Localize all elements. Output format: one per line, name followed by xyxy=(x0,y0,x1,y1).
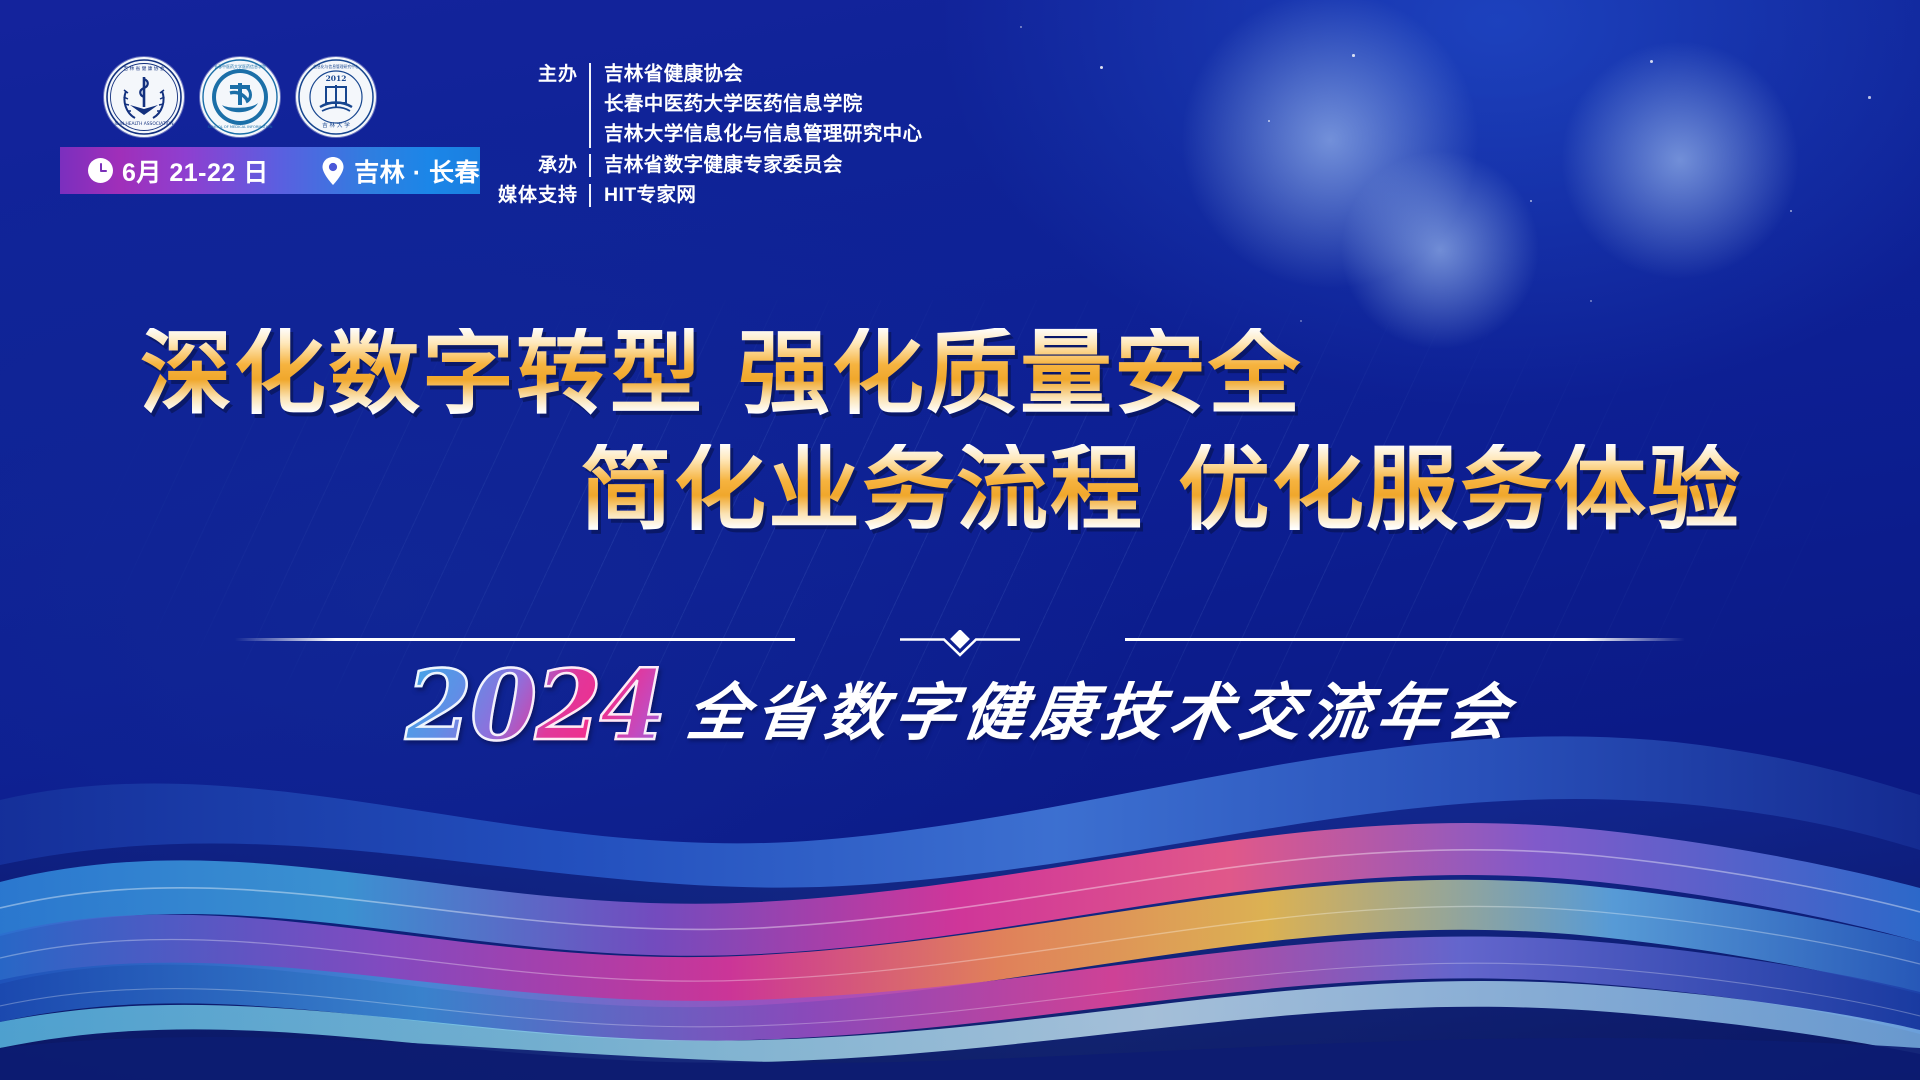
organizer-values: HIT专家网 xyxy=(604,183,696,208)
organizer-values: 吉林省健康协会 长春中医药大学医药信息学院 吉林大学信息化与信息管理研究中心 xyxy=(604,62,922,147)
star-dot xyxy=(1790,210,1792,212)
decorative-wave-graphic xyxy=(0,650,1920,1080)
jilin-university-informatization-center-logo: 2012 信息化与信息管理研究中心 吉 林 大 学 xyxy=(296,57,376,137)
clock-icon xyxy=(88,158,113,183)
divider-bar xyxy=(589,63,591,148)
star-glow xyxy=(1560,40,1800,280)
organizer-label: 媒体支持 xyxy=(492,183,578,208)
svg-text:信息化与信息管理研究中心: 信息化与信息管理研究中心 xyxy=(313,64,359,69)
svg-text:JILIN HEALTH ASSOCIATION: JILIN HEALTH ASSOCIATION xyxy=(113,121,173,127)
divider-line-right xyxy=(1125,638,1685,641)
map-pin-icon xyxy=(321,156,345,186)
star-dot xyxy=(1352,54,1355,57)
headline-line-1: 深化数字转型 强化质量安全 xyxy=(0,328,1920,420)
organizer-values: 吉林省数字健康专家委员会 xyxy=(604,153,843,178)
divider-line-left xyxy=(235,638,795,641)
star-dot xyxy=(1100,66,1103,69)
date-location-bar: 6月 21-22 日 吉林 · 长春 xyxy=(60,147,480,194)
organizer-value: 吉林省数字健康专家委员会 xyxy=(604,153,843,178)
star-dot xyxy=(1530,200,1532,202)
svg-text:吉 林 大 学: 吉 林 大 学 xyxy=(322,121,350,129)
divider-bar xyxy=(589,154,591,177)
star-dot xyxy=(1868,96,1871,99)
organizer-label: 承办 xyxy=(492,153,578,178)
event-date: 6月 21-22 日 xyxy=(122,153,269,189)
divider-bar xyxy=(589,184,591,207)
organizer-value: HIT专家网 xyxy=(604,183,696,208)
star-dot xyxy=(1020,26,1022,28)
organizer-value: 长春中医药大学医药信息学院 xyxy=(604,92,922,117)
organizer-row-host: 主办 吉林省健康协会 长春中医药大学医药信息学院 吉林大学信息化与信息管理研究中… xyxy=(492,62,922,148)
poster-canvas: JILIN HEALTH ASSOCIATION 吉 林 省 健 康 协 会 长… xyxy=(0,0,1920,1080)
changchun-university-cm-medical-information-logo: 长春中医药大学医药信息学院 SCHOOL OF MEDICAL INFORMAT… xyxy=(200,57,280,137)
location-segment: 吉林 · 长春 xyxy=(321,153,480,189)
star-dot xyxy=(1268,120,1270,122)
svg-text:SCHOOL OF MEDICAL INFORMATION: SCHOOL OF MEDICAL INFORMATION xyxy=(208,125,273,129)
headline-block: 深化数字转型 强化质量安全 简化业务流程 优化服务体验 xyxy=(0,328,1920,536)
organizer-row-media: 媒体支持 HIT专家网 xyxy=(492,183,922,208)
jilin-health-association-logo: JILIN HEALTH ASSOCIATION 吉 林 省 健 康 协 会 xyxy=(104,57,184,137)
svg-text:长春中医药大学医药信息学院: 长春中医药大学医药信息学院 xyxy=(214,63,266,69)
svg-text:2012: 2012 xyxy=(326,74,347,83)
svg-text:吉 林 省 健 康 协 会: 吉 林 省 健 康 协 会 xyxy=(124,65,165,72)
headline-line-2: 简化业务流程 优化服务体验 xyxy=(0,444,1920,536)
star-dot xyxy=(1650,60,1653,63)
event-location: 吉林 · 长春 xyxy=(354,153,480,189)
organizer-value: 吉林大学信息化与信息管理研究中心 xyxy=(604,122,922,147)
organizer-credits: 主办 吉林省健康协会 长春中医药大学医药信息学院 吉林大学信息化与信息管理研究中… xyxy=(492,62,922,213)
organizer-logo-group: JILIN HEALTH ASSOCIATION 吉 林 省 健 康 协 会 长… xyxy=(104,57,376,137)
organizer-label: 主办 xyxy=(492,62,578,87)
organizer-row-coorganizer: 承办 吉林省数字健康专家委员会 xyxy=(492,153,922,178)
organizer-value: 吉林省健康协会 xyxy=(604,62,922,87)
star-glow xyxy=(1180,0,1480,290)
date-segment: 6月 21-22 日 xyxy=(88,153,269,189)
